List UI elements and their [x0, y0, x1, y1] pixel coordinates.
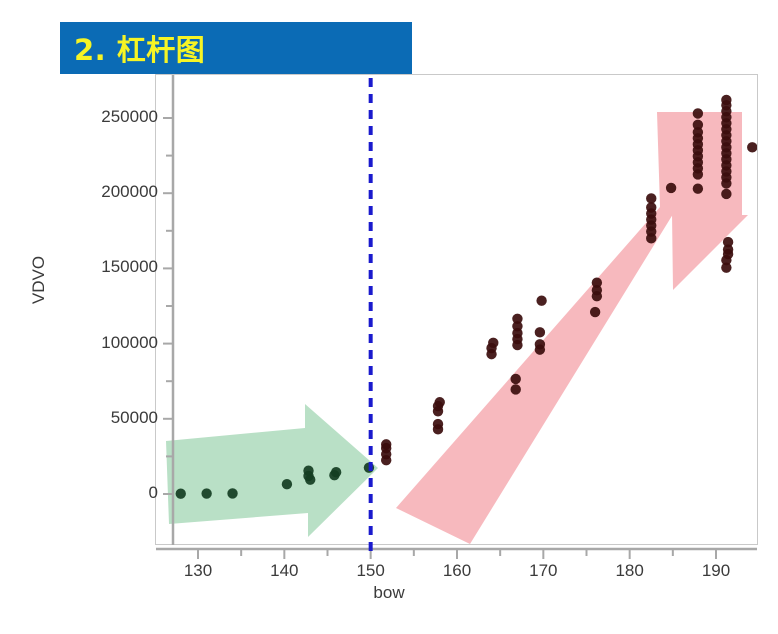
- x-tick-label: 140: [254, 561, 314, 581]
- y-tick-label: 200000: [101, 182, 158, 202]
- slide-root: 2. 杠杆图 VDVO bow 050000100000150000200000…: [0, 0, 778, 634]
- y-tick-label: 250000: [101, 107, 158, 127]
- x-tick-label: 180: [600, 561, 660, 581]
- x-tick-label: 130: [168, 561, 228, 581]
- y-tick-label: 0: [149, 483, 158, 503]
- x-tick-label: 190: [686, 561, 746, 581]
- x-axis-title: bow: [0, 583, 778, 603]
- x-tick-label: 160: [427, 561, 487, 581]
- y-tick-label: 100000: [101, 333, 158, 353]
- page-title: 2. 杠杆图: [60, 27, 205, 69]
- title-banner: 2. 杠杆图: [60, 22, 412, 74]
- x-tick-label: 150: [341, 561, 401, 581]
- chart-plot-frame: [155, 74, 758, 545]
- y-axis-title: VDVO: [29, 235, 49, 325]
- y-tick-label: 150000: [101, 257, 158, 277]
- x-tick-label: 170: [513, 561, 573, 581]
- y-tick-label: 50000: [111, 408, 158, 428]
